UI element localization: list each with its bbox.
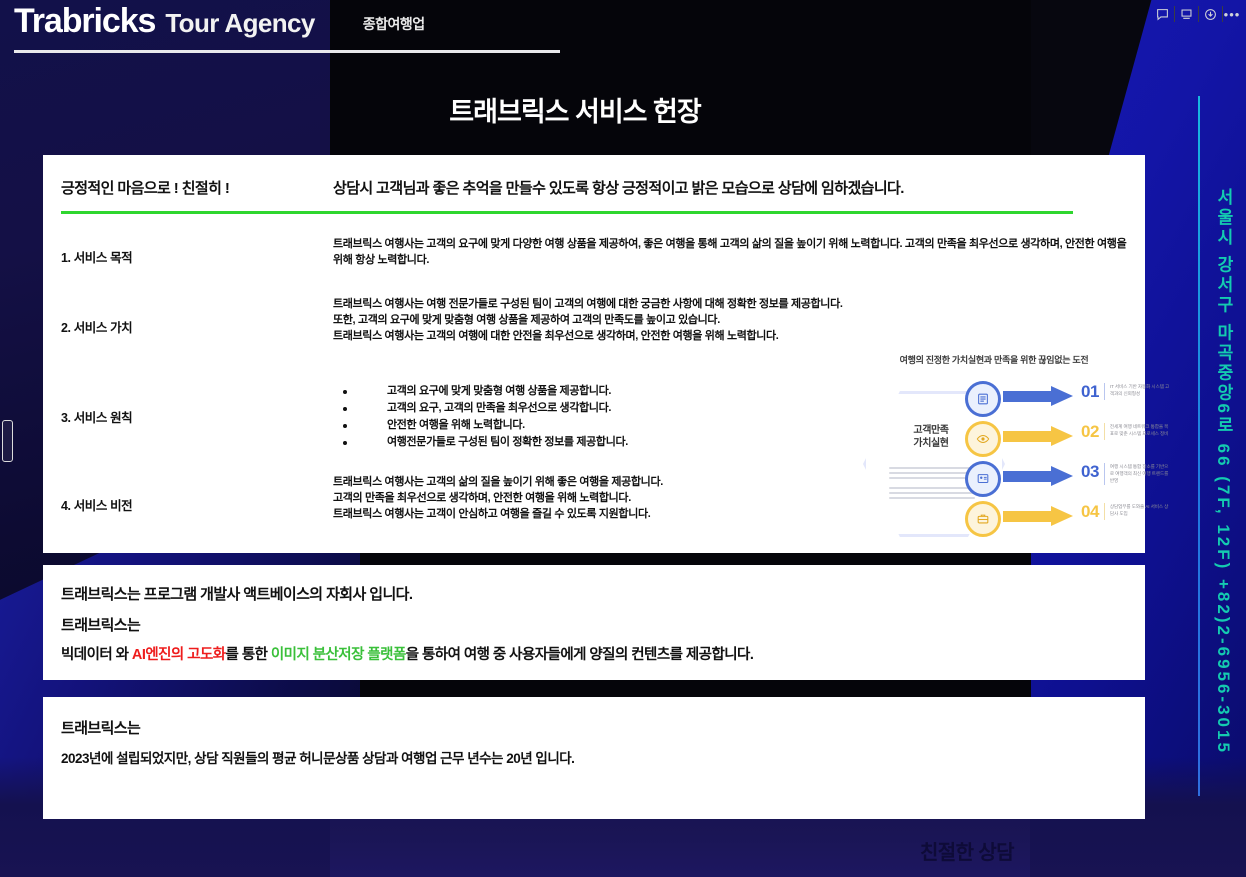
charter-paragraph: 트래브릭스 여행사는 고객의 요구에 맞게 다양한 여행 상품을 제공하여, 좋… [333,237,1131,269]
step-divider [1104,423,1105,440]
infographic-title: 여행의 진정한 가치실현과 만족을 위한 끊임없는 도전 [859,353,1129,366]
brand-subtitle: Tour Agency [165,8,314,39]
charter-paragraph: 또한, 고객의 요구에 맞게 맞춤형 여행 상품을 제공하여 고객의 만족도를 … [333,313,1131,329]
brand-korean-label: 종합여행업 [363,14,425,34]
charter-motto: 긍정적인 마음으로 ! 친절히 ! [61,177,333,198]
scroll-handle[interactable] [2,420,13,462]
about-text-part-1: 빅데이터 와 [61,647,132,663]
about-text-part-3: 을 통하여 여행 중 사용자들에게 양질의 컨텐츠를 제공합니다. [406,647,754,663]
charter-row-body: 트래브릭스 여행사는 여행 전문가들로 구성된 팀이 고객의 여행에 대한 궁금… [333,297,1131,345]
step-number: 01 [1081,383,1099,400]
charter-row-label: 4. 서비스 비전 [61,475,333,523]
step-text: 상담업무를 도와줄 AI 서비스 상담사 도입 [1110,503,1172,518]
step-text: 전세계 여행 네트워크 통합을 목표로 맞춘 시스템 프로세스 정비 [1110,423,1172,438]
sidebar-accent-line [1198,96,1200,796]
arrow-step-3 [1003,466,1075,486]
charter-row-value: 2. 서비스 가치 트래브릭스 여행사는 여행 전문가들로 구성된 팀이 고객의… [61,297,1131,345]
step-number: 02 [1081,423,1099,440]
charter-header: 긍정적인 마음으로 ! 친절히 ! 상담시 고객님과 좋은 추억을 만들수 있도… [61,177,1127,198]
eye-icon [965,421,1001,457]
arrow-step-4 [1003,506,1075,526]
about-heading: 트래브릭스는 [61,614,140,635]
charter-paragraph: 트래브릭스 여행사는 고객의 여행에 대한 안전을 최우선으로 생각하며, 안전… [333,329,1131,345]
founded-description: 2023년에 설립되었지만, 상담 직원들의 평균 허니문상품 상담과 여행업 … [61,747,574,767]
download-icon[interactable] [1198,0,1222,28]
header-divider [14,50,560,53]
sidebar-address: 서울시 강서구 마곡중앙6로 66 (7F, 12F) +82)2-6956-3… [1208,188,1238,788]
slide-canvas: ••• Trabricks Tour Agency 종합여행업 트래브릭스 서비… [0,0,1246,877]
charter-row-label: 2. 서비스 가치 [61,297,333,345]
infographic-step: 03 여행 시스템 통합 장소를 기반으로 여행객의 최신 여행 트렌드를 반영 [1081,463,1172,485]
about-highlight-ai: AI엔진의 고도화 [132,647,226,663]
slide-caption: 친절한 상담 [920,836,1014,865]
charter-row-body: 트래브릭스 여행사는 고객의 요구에 맞게 다양한 여행 상품을 제공하여, 좋… [333,237,1131,269]
founded-heading: 트래브릭스는 [61,717,140,738]
service-charter-panel: 긍정적인 마음으로 ! 친절히 ! 상담시 고객님과 좋은 추억을 만들수 있도… [43,155,1145,553]
step-divider [1104,503,1105,520]
slide-header: Trabricks Tour Agency 종합여행업 [14,2,574,60]
about-subsidiary-line: 트래브릭스는 프로그램 개발사 액트베이스의 자회사 입니다. [61,583,412,604]
step-number: 04 [1081,503,1099,520]
arrow-step-1 [1003,386,1075,406]
about-highlight-platform: 이미지 분산저장 플랫폼 [271,647,406,663]
more-options-icon[interactable]: ••• [1222,0,1246,28]
top-toolbar: ••• [1150,0,1246,28]
hexagon-placeholder-text [889,467,975,502]
charter-row-label: 1. 서비스 목적 [61,237,333,269]
hexagon-label-line2: 가치실현 [913,438,948,449]
about-description: 빅데이터 와 AI엔진의 고도화를 통한 이미지 분산저장 플랫폼을 통하여 여… [61,643,753,664]
step-divider [1104,383,1105,400]
infographic-step: 04 상담업무를 도와줄 AI 서비스 상담사 도입 [1081,503,1172,520]
page-title: 트래브릭스 서비스 헌장 [0,90,1150,129]
arrow-step-2 [1003,426,1075,446]
step-number: 03 [1081,463,1099,480]
brand-name: Trabricks [14,2,155,41]
charter-row-label: 3. 서비스 원칙 [61,383,333,451]
about-panel: 트래브릭스는 프로그램 개발사 액트베이스의 자회사 입니다. 트래브릭스는 빅… [43,565,1145,680]
hexagon-label-line1: 고객만족 [913,425,948,436]
step-divider [1104,463,1105,485]
charter-paragraph: 트래브릭스 여행사는 여행 전문가들로 구성된 팀이 고객의 여행에 대한 궁금… [333,297,1131,313]
present-icon[interactable] [1174,0,1198,28]
value-infographic: 여행의 진정한 가치실현과 만족을 위한 끊임없는 도전 고객만족 가치실현 [859,353,1129,543]
charter-pledge: 상담시 고객님과 좋은 추억을 만들수 있도록 항상 긍정적이고 밝은 모습으로… [333,177,904,198]
step-text: 여행 시스템 통합 장소를 기반으로 여행객의 최신 여행 트렌드를 반영 [1110,463,1172,485]
charter-row-purpose: 1. 서비스 목적 트래브릭스 여행사는 고객의 요구에 맞게 다양한 여행 상… [61,237,1131,269]
infographic-canvas: 고객만족 가치실현 [859,377,1129,543]
briefcase-icon [965,501,1001,537]
presentation-icon [965,461,1001,497]
step-text: IT 서비스 기반 자동화 시스템 고객과의 신뢰형성 [1110,383,1172,398]
about-text-part-2: 를 통한 [226,647,271,663]
infographic-step: 02 전세계 여행 네트워크 통합을 목표로 맞춘 시스템 프로세스 정비 [1081,423,1172,440]
list-icon [965,381,1001,417]
charter-green-divider [61,211,1073,214]
founded-panel: 트래브릭스는 2023년에 설립되었지만, 상담 직원들의 평균 허니문상품 상… [43,697,1145,819]
infographic-step: 01 IT 서비스 기반 자동화 시스템 고객과의 신뢰형성 [1081,383,1172,400]
comment-icon[interactable] [1150,0,1174,28]
